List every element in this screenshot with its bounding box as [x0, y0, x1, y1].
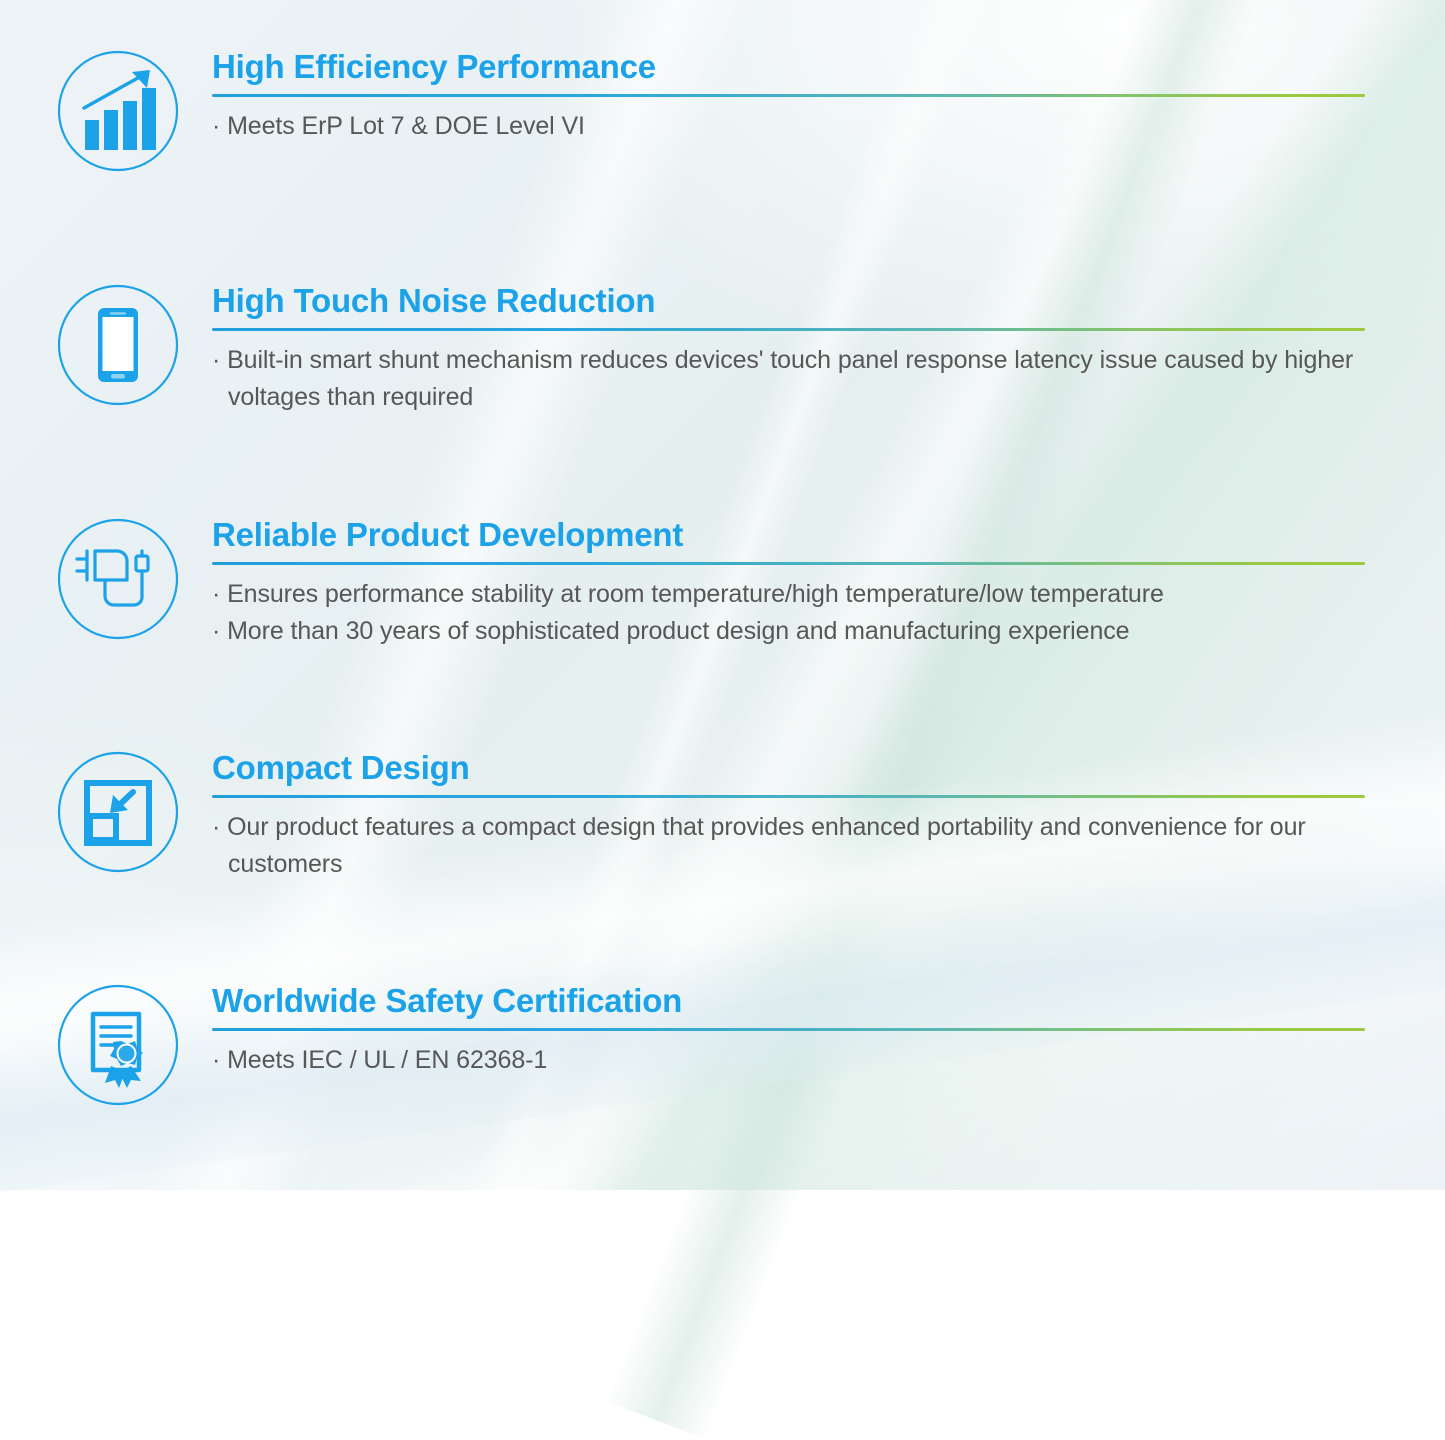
background-streak — [81, 0, 830, 1401]
feature-content: High Efficiency Performance · Meets ErP … — [212, 50, 1367, 145]
feature-bullet: · Ensures performance stability at room … — [212, 576, 1367, 613]
feature-bullets: · Built-in smart shunt mechanism reduces… — [212, 342, 1367, 416]
feature-bullet: · Built-in smart shunt mechanism reduces… — [212, 342, 1367, 416]
feature-bullets: · Meets ErP Lot 7 & DOE Level VI — [212, 108, 1367, 145]
feature-content: Worldwide Safety Certification · Meets I… — [212, 984, 1367, 1079]
heading-divider — [212, 94, 1365, 97]
feature-content: High Touch Noise Reduction · Built-in sm… — [212, 284, 1367, 416]
heading-divider — [212, 795, 1365, 798]
compact-resize-icon — [57, 751, 179, 873]
feature-heading: Compact Design — [212, 751, 1367, 786]
background-streak — [605, 0, 1353, 1440]
feature-bullet: · Meets IEC / UL / EN 62368-1 — [212, 1042, 1367, 1079]
certificate-award-icon — [57, 984, 179, 1106]
smartphone-icon — [57, 284, 179, 406]
feature-bullet: · Meets ErP Lot 7 & DOE Level VI — [212, 108, 1367, 145]
heading-divider — [212, 562, 1365, 565]
background-streak — [393, 0, 1085, 1399]
feature-heading: Worldwide Safety Certification — [212, 984, 1367, 1019]
power-adapter-icon — [57, 518, 179, 640]
feature-heading: High Touch Noise Reduction — [212, 284, 1367, 319]
feature-bullet: · Our product features a compact design … — [212, 809, 1367, 883]
bar-chart-growth-icon — [57, 50, 179, 172]
heading-divider — [212, 328, 1365, 331]
heading-divider — [212, 1028, 1365, 1031]
feature-bullets: · Our product features a compact design … — [212, 809, 1367, 883]
feature-highlights-page: High Efficiency Performance · Meets ErP … — [0, 0, 1445, 1190]
feature-content: Reliable Product Development · Ensures p… — [212, 518, 1367, 650]
feature-bullets: · Meets IEC / UL / EN 62368-1 — [212, 1042, 1367, 1079]
feature-content: Compact Design · Our product features a … — [212, 751, 1367, 883]
feature-heading: High Efficiency Performance — [212, 50, 1367, 85]
feature-bullet: · More than 30 years of sophisticated pr… — [212, 613, 1367, 650]
feature-bullets: · Ensures performance stability at room … — [212, 576, 1367, 650]
feature-heading: Reliable Product Development — [212, 518, 1367, 553]
